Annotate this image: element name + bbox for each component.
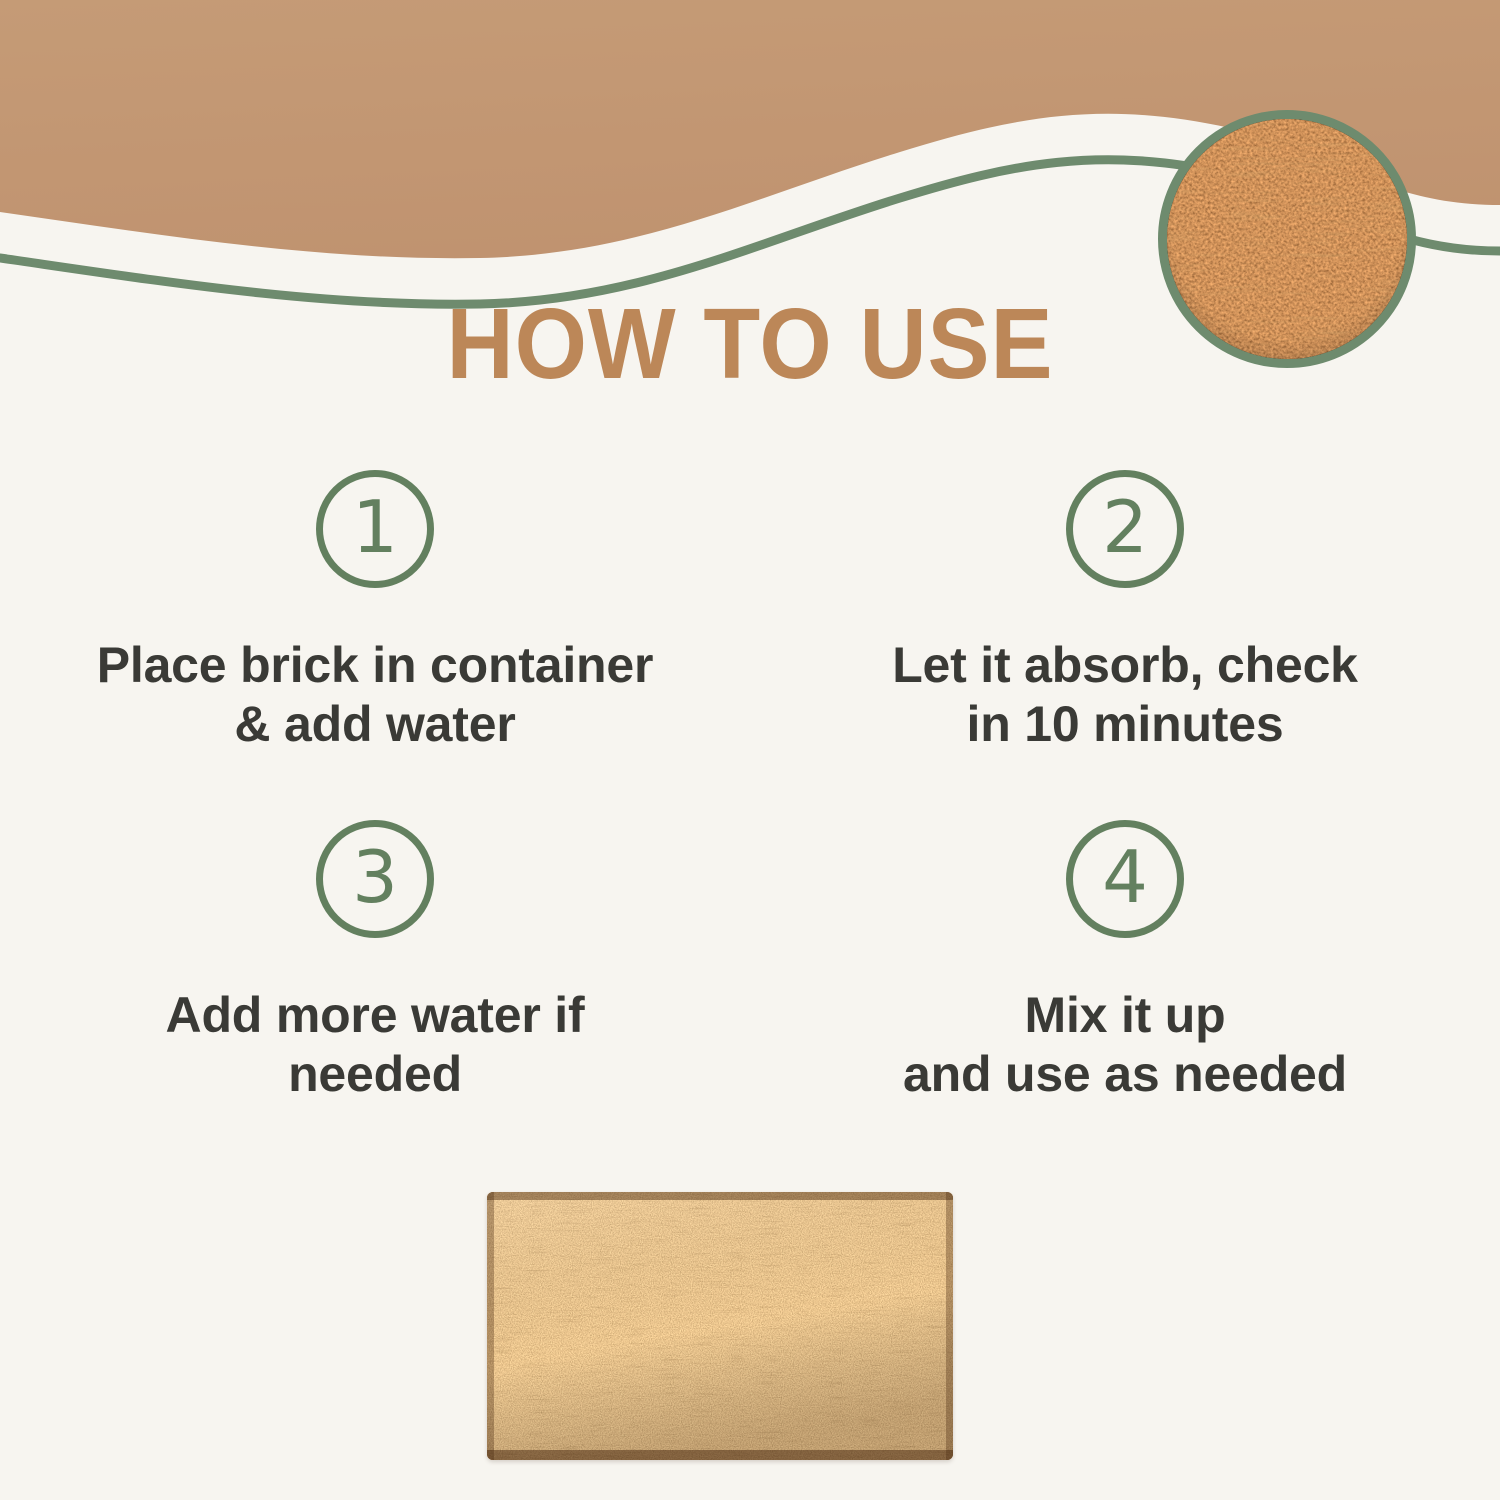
step-item-4: 4 Mix it up and use as needed bbox=[750, 820, 1500, 1170]
step-number-badge-3: 3 bbox=[316, 820, 434, 938]
steps-grid: 1 Place brick in container & add water 2… bbox=[0, 470, 1500, 1170]
step-item-3: 3 Add more water if needed bbox=[0, 820, 750, 1170]
step-text-3: Add more water if needed bbox=[166, 986, 585, 1104]
brick-texture bbox=[487, 1192, 953, 1460]
coir-texture bbox=[1158, 110, 1416, 368]
step-number-badge-2: 2 bbox=[1066, 470, 1184, 588]
step-number-badge-1: 1 bbox=[316, 470, 434, 588]
infographic-page: HOW TO USE 1 Place brick in container & … bbox=[0, 0, 1500, 1500]
coco-coir-circle-photo bbox=[1158, 110, 1416, 368]
coco-coir-brick-photo bbox=[487, 1192, 953, 1460]
step-item-1: 1 Place brick in container & add water bbox=[0, 470, 750, 820]
step-text-1: Place brick in container & add water bbox=[97, 636, 654, 754]
step-text-4: Mix it up and use as needed bbox=[903, 986, 1347, 1104]
step-text-2: Let it absorb, check in 10 minutes bbox=[892, 636, 1358, 754]
step-number-badge-4: 4 bbox=[1066, 820, 1184, 938]
step-item-2: 2 Let it absorb, check in 10 minutes bbox=[750, 470, 1500, 820]
